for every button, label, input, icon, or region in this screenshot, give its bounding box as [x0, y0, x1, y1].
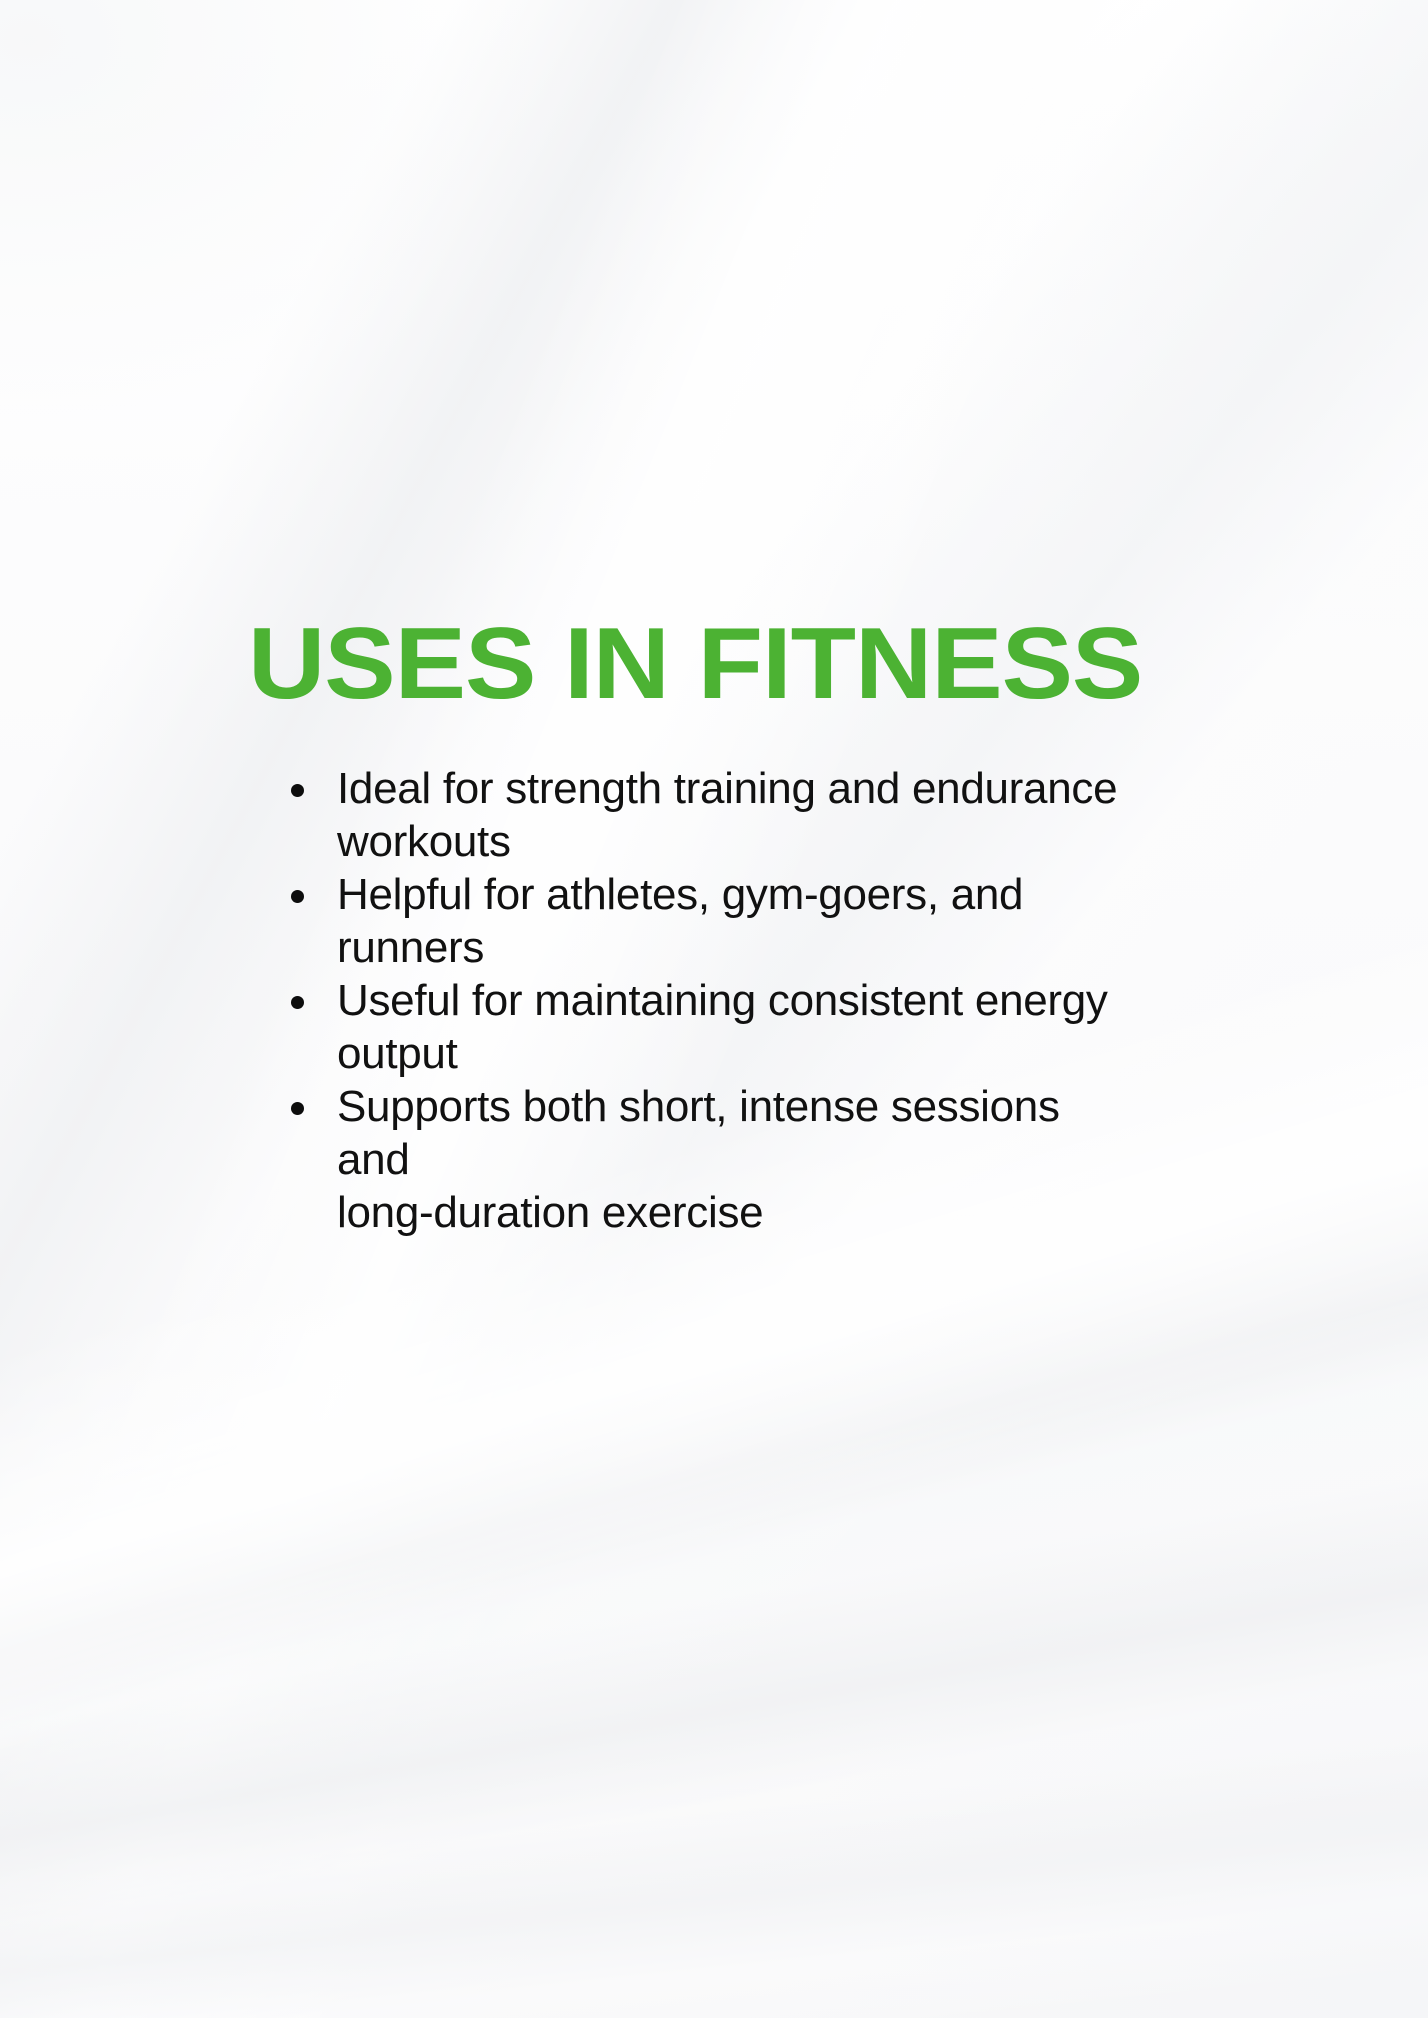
- list-item-label: Useful for maintaining consistent energy…: [337, 974, 1125, 1080]
- slide-content: USES IN FITNESS Ideal for strength train…: [0, 0, 1428, 2018]
- bullet-dot-icon: [291, 890, 304, 903]
- list-item-label: Helpful for athletes, gym-goers, and run…: [337, 868, 1125, 974]
- bullet-dot-icon: [291, 1102, 304, 1115]
- list-item-label: Ideal for strength training and enduranc…: [337, 762, 1125, 868]
- list-item-label: Supports both short, intense sessions an…: [337, 1080, 1125, 1239]
- bullet-dot-icon: [291, 784, 304, 797]
- bullet-dot-icon: [291, 996, 304, 1009]
- bullet-list: Ideal for strength training and enduranc…: [285, 762, 1125, 1239]
- list-item: Helpful for athletes, gym-goers, and run…: [285, 868, 1125, 974]
- slide-title: USES IN FITNESS: [248, 608, 1142, 720]
- list-item: Useful for maintaining consistent energy…: [285, 974, 1125, 1080]
- list-item: Supports both short, intense sessions an…: [285, 1080, 1125, 1239]
- list-item: Ideal for strength training and enduranc…: [285, 762, 1125, 868]
- slide-canvas: USES IN FITNESS Ideal for strength train…: [0, 0, 1428, 2018]
